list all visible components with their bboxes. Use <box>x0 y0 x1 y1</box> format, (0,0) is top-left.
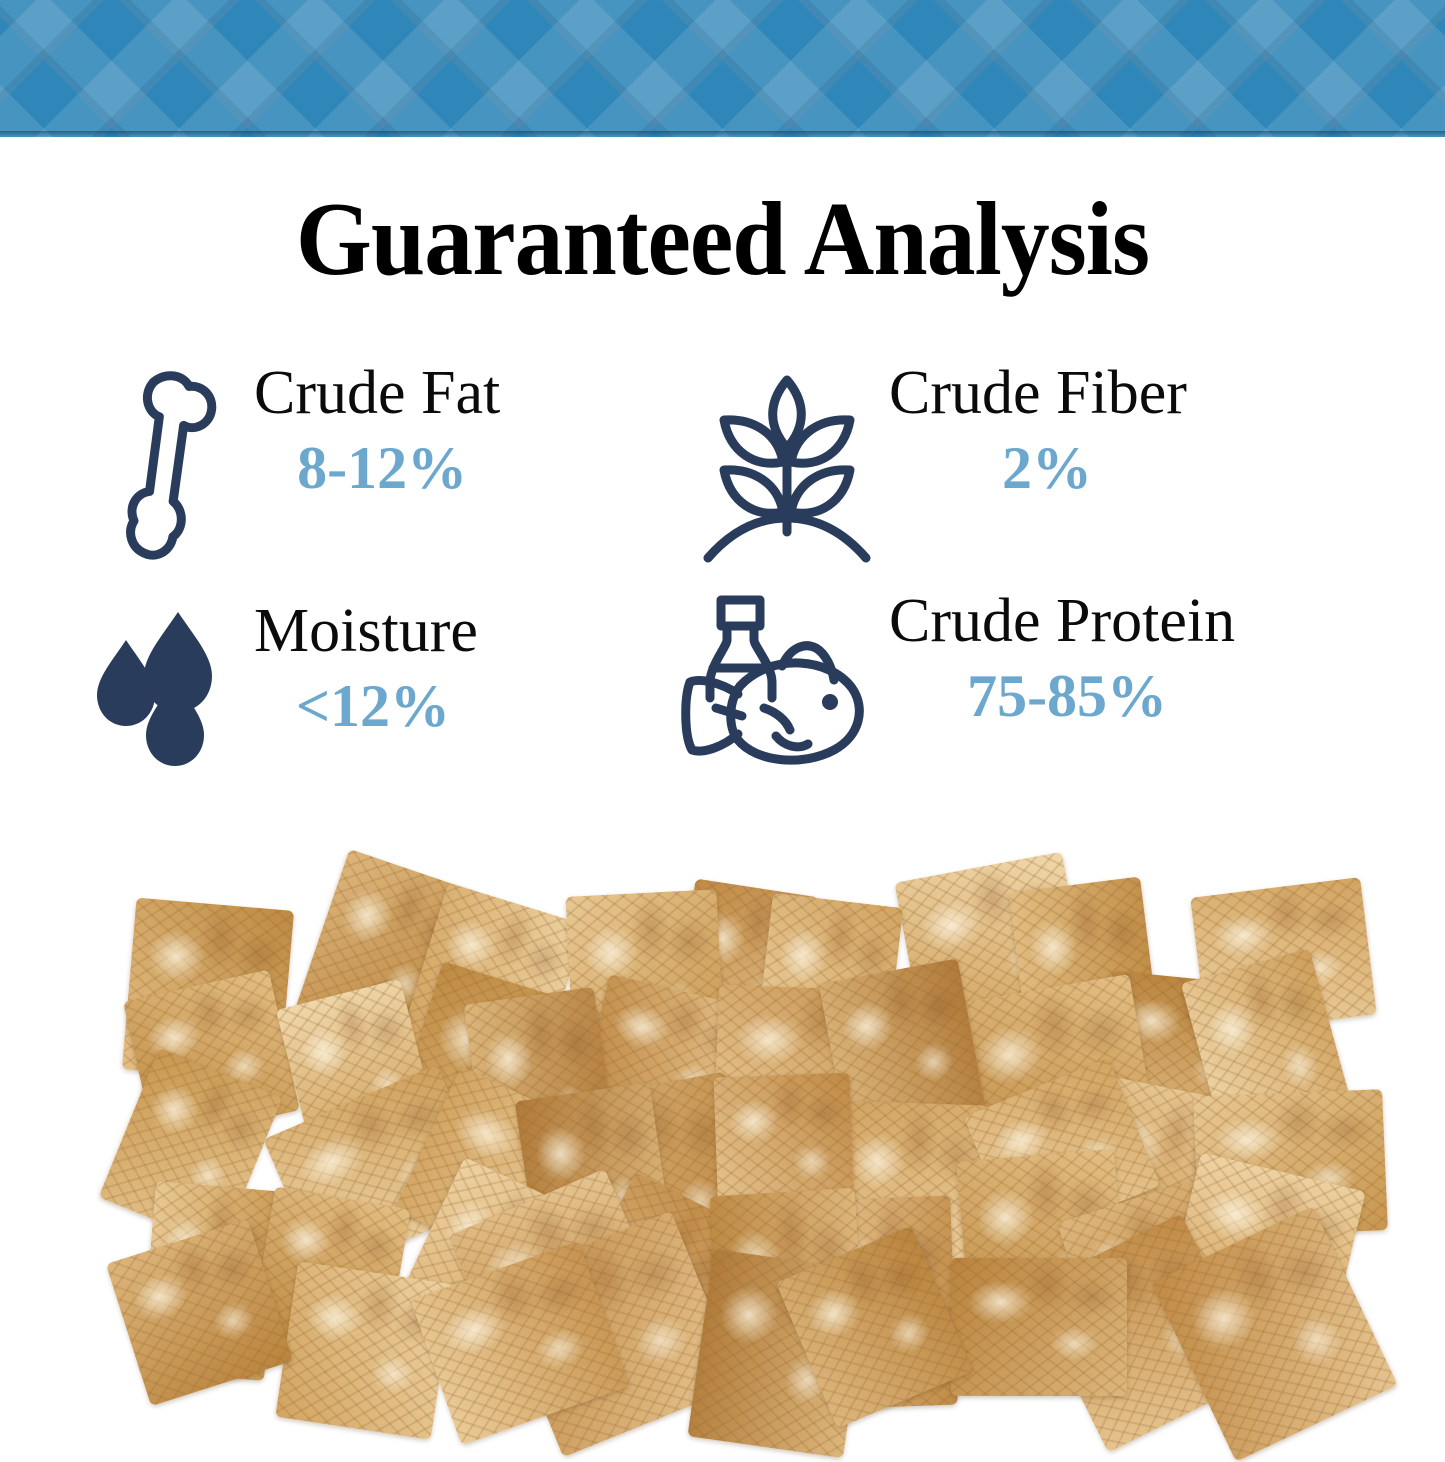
stat-text-moisture: Moisture <12% <box>254 600 478 750</box>
stat-text-crude-fiber: Crude Fiber 2% <box>889 362 1187 512</box>
page-title: Guaranteed Analysis <box>51 186 1395 291</box>
fish-oil-icon <box>680 590 875 780</box>
stat-value-crude-fiber: 2% <box>1002 425 1092 512</box>
stat-text-crude-protein: Crude Protein 75-85% <box>889 590 1235 740</box>
product-photo <box>150 885 1300 1430</box>
water-drops-icon <box>90 600 240 775</box>
stat-label-crude-fiber: Crude Fiber <box>889 362 1187 425</box>
stat-item-crude-fat: Crude Fat 8-12% <box>90 362 500 567</box>
bone-icon <box>90 362 240 567</box>
plaid-thread-layer <box>0 0 1445 137</box>
stat-value-moisture: <12% <box>296 663 450 750</box>
stat-value-crude-protein: 75-85% <box>967 653 1167 740</box>
stat-label-crude-fat: Crude Fat <box>254 362 500 425</box>
stat-item-crude-protein: Crude Protein 75-85% <box>680 590 1235 780</box>
stat-value-crude-fat: 8-12% <box>297 425 467 512</box>
stat-label-crude-protein: Crude Protein <box>889 590 1235 653</box>
wheat-sprout-icon <box>700 362 875 572</box>
stat-label-moisture: Moisture <box>254 600 478 663</box>
stat-item-moisture: Moisture <12% <box>90 600 478 775</box>
product-chew-piece <box>951 1257 1127 1395</box>
stat-text-crude-fat: Crude Fat 8-12% <box>254 362 500 512</box>
chew-highlight-overlay <box>951 1257 1127 1395</box>
header-plaid-banner <box>0 0 1445 137</box>
banner-bottom-edge <box>0 131 1445 137</box>
guaranteed-analysis-grid: Crude Fat 8-12% <box>70 352 1390 822</box>
stat-item-crude-fiber: Crude Fiber 2% <box>700 362 1187 572</box>
